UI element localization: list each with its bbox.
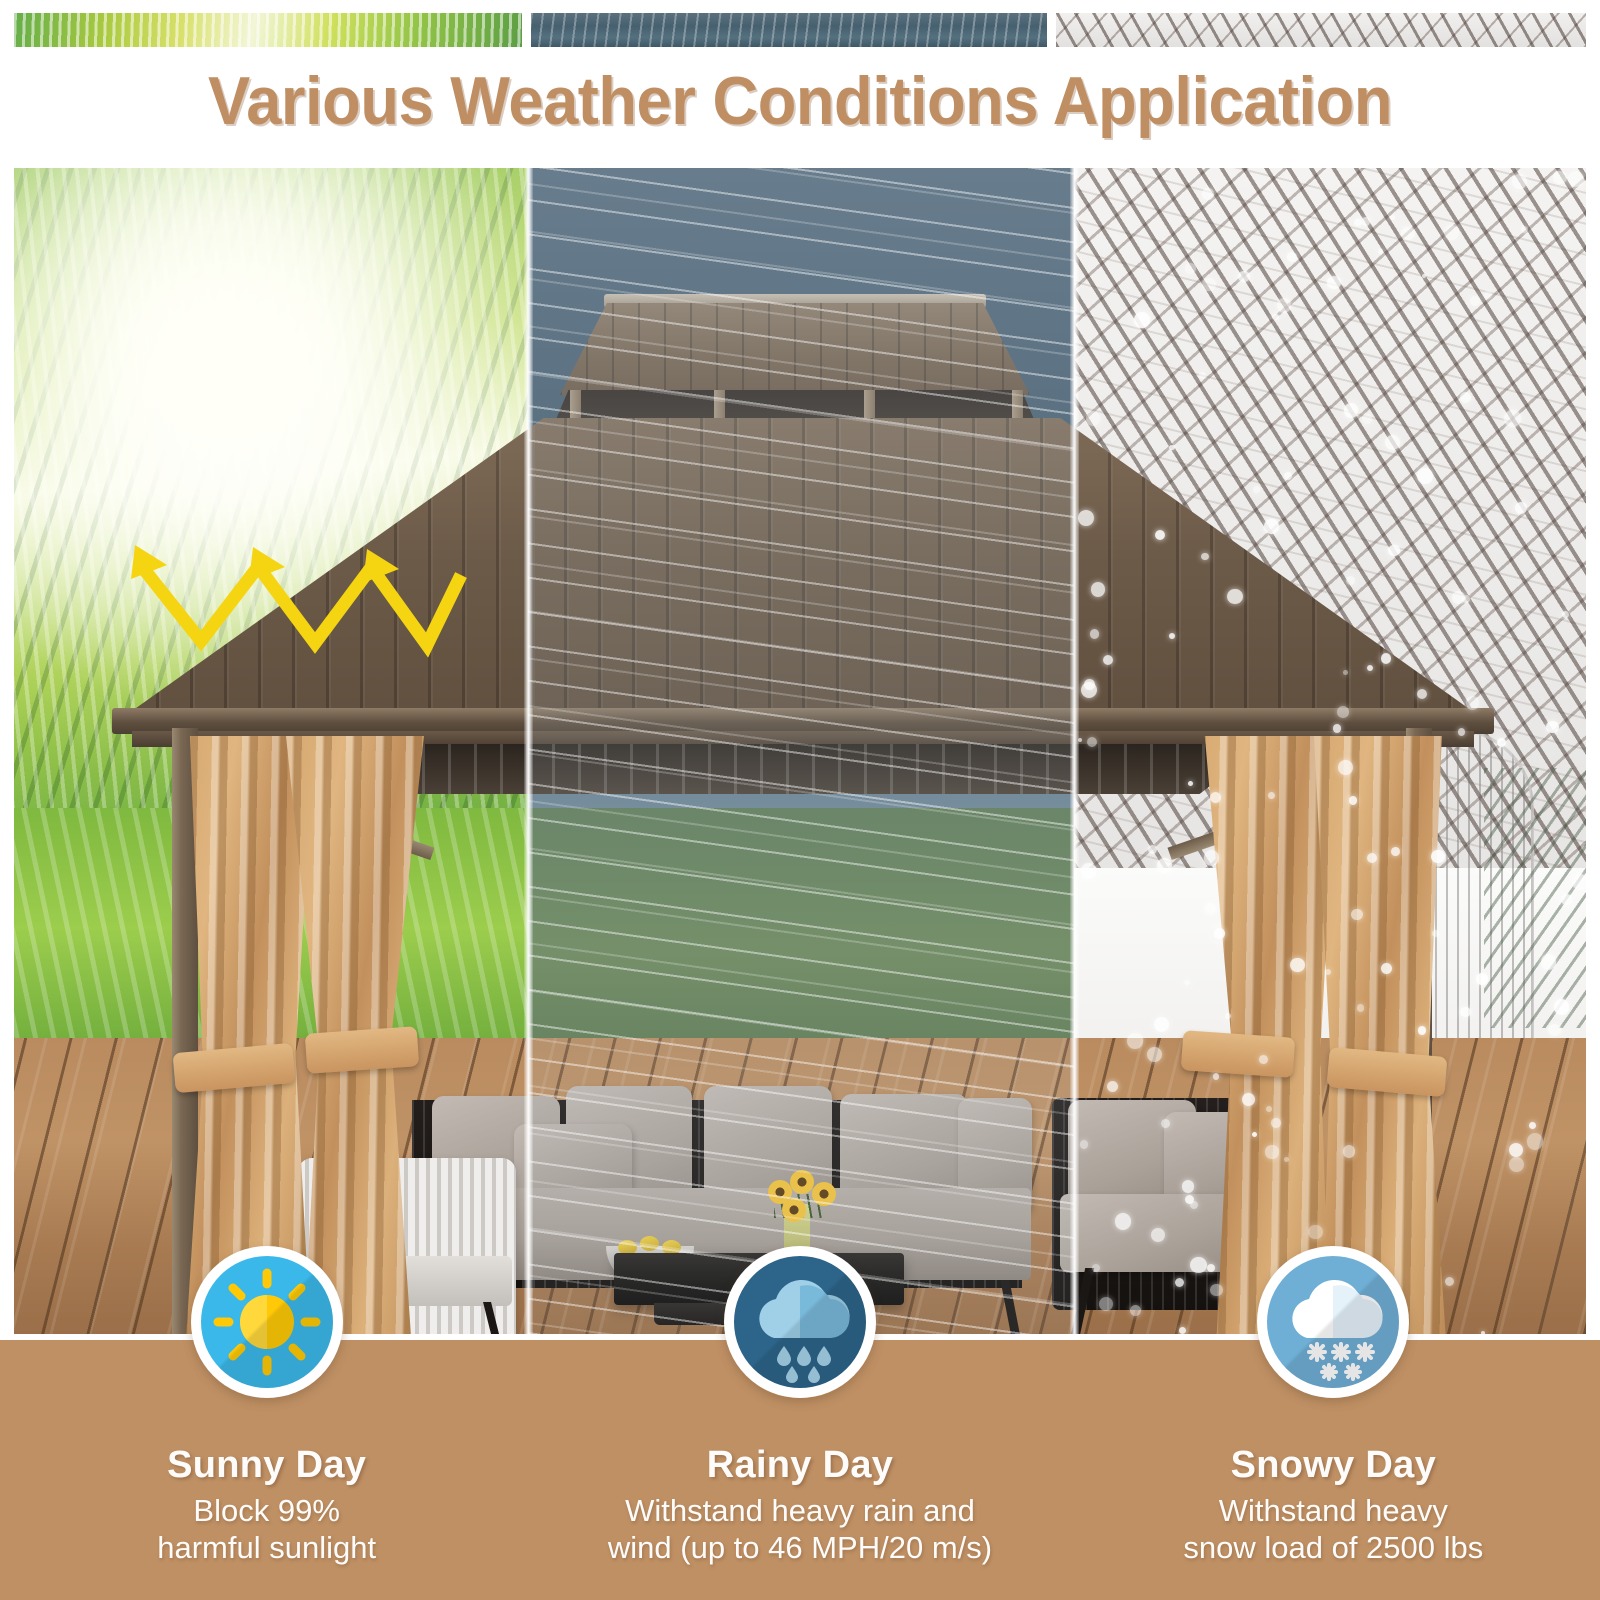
panel-divider-2 <box>1070 168 1079 1334</box>
product-feature-image: Various Weather Conditions Application <box>0 0 1600 1600</box>
panel-divider-1 <box>524 168 533 1334</box>
feature-title: Rainy Day <box>707 1444 893 1487</box>
sofa-leg <box>1000 1280 1020 1334</box>
sunflower <box>790 1170 814 1194</box>
feature-description: Block 99% harmful sunlight <box>157 1493 376 1566</box>
curtain-tieback <box>1181 1030 1296 1078</box>
sun-reflection-arrows <box>109 523 479 698</box>
strip-rainy <box>531 13 1047 47</box>
page-title: Various Weather Conditions Application <box>56 62 1544 140</box>
strip-sunny <box>14 13 522 47</box>
feature-sunny: Sunny Day Block 99% harmful sunlight <box>0 1340 533 1600</box>
features-banner: Sunny Day Block 99% harmful sunlight <box>0 1340 1600 1600</box>
curtain-left-outer <box>182 736 314 1334</box>
sunflower <box>812 1182 836 1206</box>
rain-badge <box>724 1246 876 1398</box>
strip-snowy <box>1056 13 1586 47</box>
feature-title: Snowy Day <box>1231 1444 1436 1487</box>
curtain-right-outer <box>1314 736 1450 1334</box>
gazebo-structure <box>14 168 1586 1334</box>
fruit <box>640 1236 659 1251</box>
gazebo-ceiling <box>344 744 1264 794</box>
feature-description: Withstand heavy snow load of 2500 lbs <box>1183 1493 1483 1566</box>
roof-upper-tier <box>560 303 1030 395</box>
feature-snowy: Snowy Day Withstand heavy snow load of 2… <box>1067 1340 1600 1600</box>
hero-composite-photo <box>14 168 1586 1334</box>
sun-badge <box>191 1246 343 1398</box>
sunflower <box>782 1198 806 1222</box>
feature-rainy: Rainy Day Withstand heavy rain and wind … <box>533 1340 1066 1600</box>
snow-badge <box>1257 1246 1409 1398</box>
curtain-tieback <box>305 1026 420 1074</box>
weather-strip-preview <box>14 13 1586 47</box>
feature-title: Sunny Day <box>167 1444 366 1487</box>
feature-description: Withstand heavy rain and wind (up to 46 … <box>608 1493 992 1566</box>
